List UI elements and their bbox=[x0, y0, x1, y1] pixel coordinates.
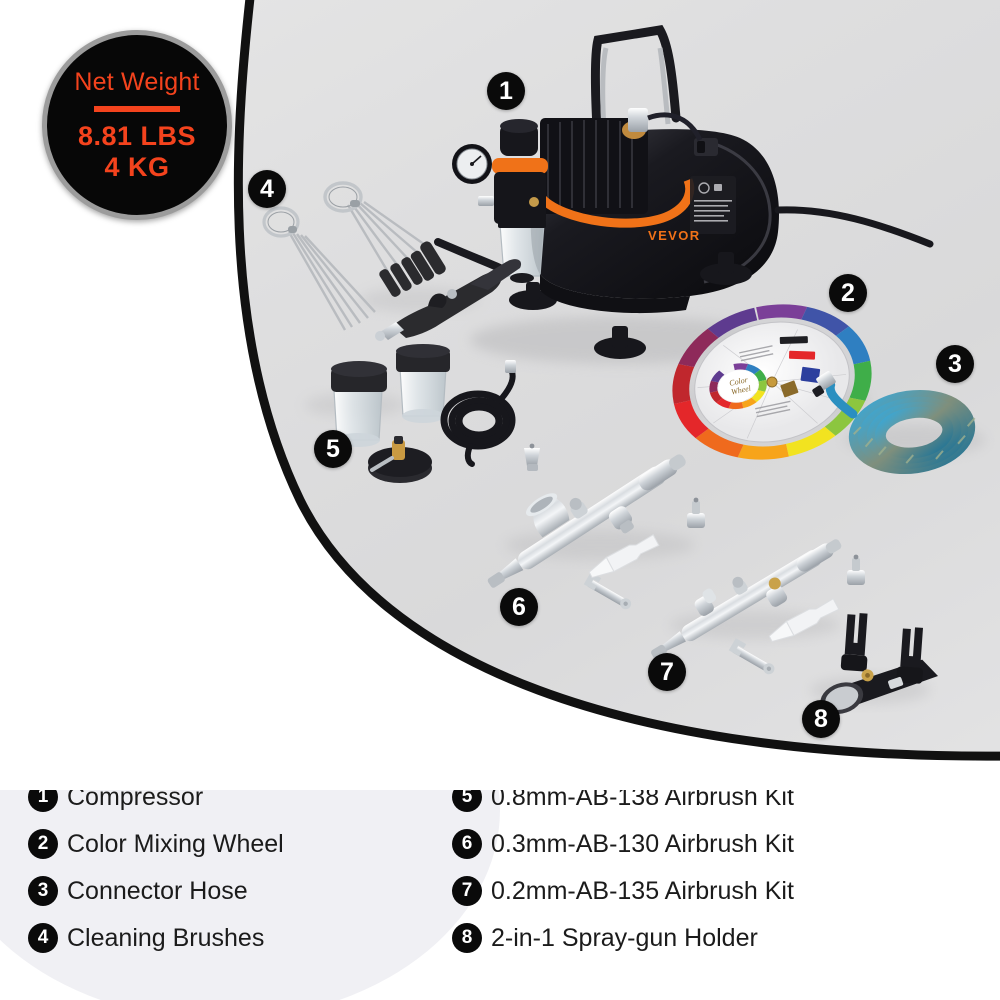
legend-number-7: 7 bbox=[452, 876, 482, 906]
callout-badge-1: 1 bbox=[487, 72, 525, 110]
legend-number-4: 4 bbox=[28, 923, 58, 953]
callout-badge-4: 4 bbox=[248, 170, 286, 208]
legend-item-2: 2Color Mixing Wheel bbox=[28, 827, 448, 861]
legend-number-8: 8 bbox=[452, 923, 482, 953]
net-weight-lbs: 8.81 LBS bbox=[78, 121, 196, 151]
callout-badge-6: 6 bbox=[500, 588, 538, 626]
legend-number-6: 6 bbox=[452, 829, 482, 859]
legend-label-6: 0.3mm-AB-130 Airbrush Kit bbox=[491, 830, 794, 859]
legend-label-2: Color Mixing Wheel bbox=[67, 830, 284, 859]
net-weight-badge: Net Weight 8.81 LBS 4 KG bbox=[42, 30, 232, 220]
legend-number-2: 2 bbox=[28, 829, 58, 859]
callout-badge-5: 5 bbox=[314, 430, 352, 468]
legend-item-8: 82-in-1 Spray-gun Holder bbox=[452, 921, 972, 955]
legend-item-6: 60.3mm-AB-130 Airbrush Kit bbox=[452, 827, 972, 861]
legend-label-4: Cleaning Brushes bbox=[67, 924, 264, 953]
legend-item-7: 70.2mm-AB-135 Airbrush Kit bbox=[452, 874, 972, 908]
legend-label-3: Connector Hose bbox=[67, 877, 248, 906]
legend-list-left: 1Compressor2Color Mixing Wheel3Connector… bbox=[28, 780, 448, 968]
legend-item-4: 4Cleaning Brushes bbox=[28, 921, 448, 955]
legend-number-3: 3 bbox=[28, 876, 58, 906]
infographic-canvas: VEVOR bbox=[0, 0, 1000, 1000]
net-weight-kg: 4 KG bbox=[104, 152, 169, 182]
legend-list-right: 50.8mm-AB-138 Airbrush Kit60.3mm-AB-130 … bbox=[452, 780, 972, 968]
legend-label-7: 0.2mm-AB-135 Airbrush Kit bbox=[491, 877, 794, 906]
callout-badge-7: 7 bbox=[648, 653, 686, 691]
callout-badge-3: 3 bbox=[936, 345, 974, 383]
callout-badge-2: 2 bbox=[829, 274, 867, 312]
legend-label-8: 2-in-1 Spray-gun Holder bbox=[491, 924, 758, 953]
net-weight-title: Net Weight bbox=[74, 68, 199, 97]
legend-item-3: 3Connector Hose bbox=[28, 874, 448, 908]
callout-badge-8: 8 bbox=[802, 700, 840, 738]
net-weight-divider bbox=[94, 106, 180, 112]
